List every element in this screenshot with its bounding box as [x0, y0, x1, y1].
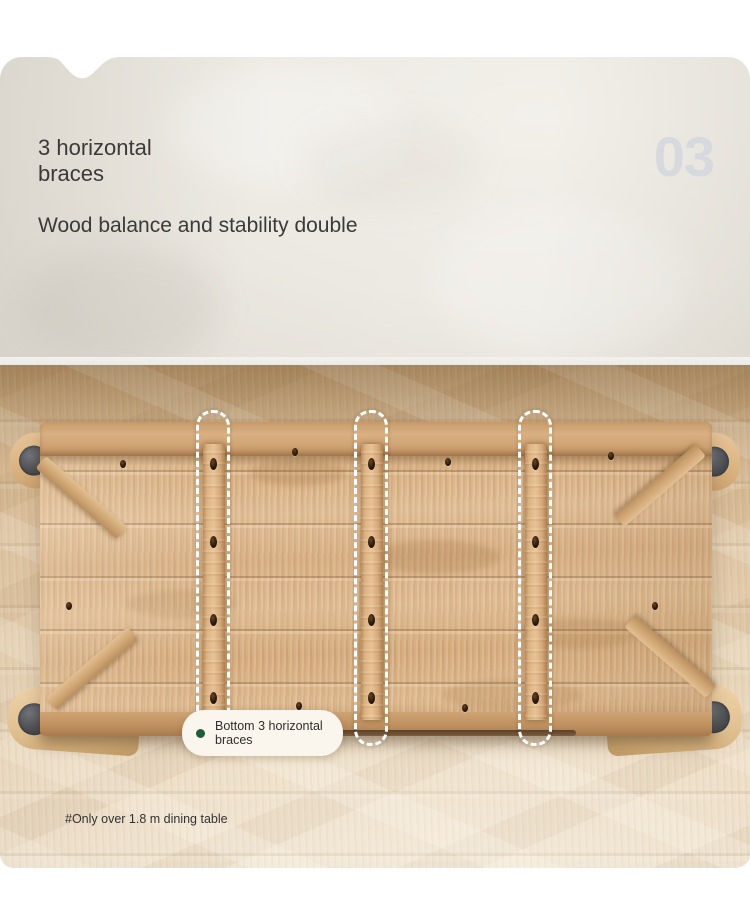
page-subtitle: Wood balance and stability double	[38, 213, 358, 239]
screw-hole	[652, 602, 658, 610]
step-number-watermark: 03	[654, 129, 714, 185]
footnote-text: #Only over 1.8 m dining table	[65, 812, 228, 826]
highlight-outline-brace-left	[196, 410, 230, 746]
screw-hole	[608, 452, 614, 460]
highlight-outline-brace-right	[518, 410, 552, 746]
feature-panel-page: 03 3 horizontal braces Wood balance and …	[0, 0, 750, 914]
highlight-outline-brace-center	[354, 410, 388, 746]
screw-hole	[445, 458, 451, 466]
callout-label: Bottom 3 horizontal braces	[215, 719, 323, 747]
bullet-dot-icon	[196, 729, 205, 738]
screw-hole	[66, 602, 72, 610]
page-title: 3 horizontal braces	[38, 135, 258, 187]
callout-badge[interactable]: Bottom 3 horizontal braces	[182, 710, 343, 756]
screw-hole	[296, 702, 302, 710]
screw-hole	[462, 704, 468, 712]
table-photo-region	[0, 412, 750, 868]
content-panel: 03 3 horizontal braces Wood balance and …	[0, 57, 750, 868]
screw-hole	[292, 448, 298, 456]
heading-group: 3 horizontal braces Wood balance and sta…	[38, 135, 358, 239]
screw-hole	[120, 460, 126, 468]
